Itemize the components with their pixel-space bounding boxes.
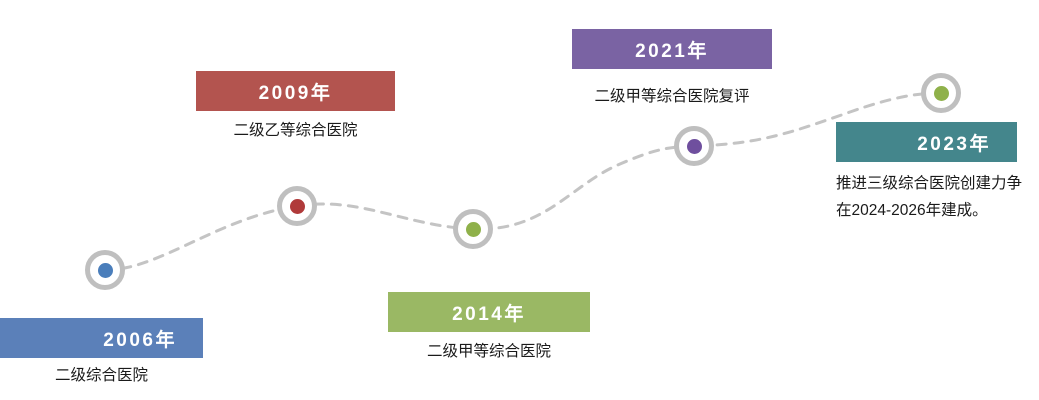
year-bar-2006[interactable]: 2006年 (0, 318, 203, 358)
milestone-caption-2014: 二级甲等综合医院 (379, 339, 599, 364)
year-label: 2009年 (259, 78, 333, 105)
milestone-node-2021[interactable] (674, 126, 714, 166)
milestone-node-2014[interactable] (453, 209, 493, 249)
year-bar-2021[interactable]: 2021年 (572, 29, 772, 69)
milestone-caption-2006: 二级综合医院 (0, 363, 203, 388)
year-bar-2009[interactable]: 2009年 (196, 71, 395, 111)
milestone-dot-icon (934, 86, 949, 101)
timeline-infographic: 2006年二级综合医院2009年二级乙等综合医院2014年二级甲等综合医院202… (0, 0, 1039, 400)
milestone-node-2009[interactable] (277, 186, 317, 226)
milestone-caption-2009: 二级乙等综合医院 (186, 118, 405, 143)
milestone-caption-2021: 二级甲等综合医院复评 (552, 84, 792, 109)
year-bar-2023[interactable]: 2023年 (836, 122, 1017, 162)
milestone-dot-icon (466, 222, 481, 237)
milestone-caption-2023: 推进三级综合医院创建力争在2024-2026年建成。 (836, 170, 1026, 224)
milestone-dot-icon (290, 199, 305, 214)
milestone-node-2023[interactable] (921, 73, 961, 113)
year-label: 2014年 (452, 299, 526, 326)
milestone-dot-icon (687, 139, 702, 154)
milestone-dot-icon (98, 263, 113, 278)
year-label: 2021年 (635, 36, 709, 63)
year-label: 2006年 (103, 325, 177, 352)
milestone-node-2006[interactable] (85, 250, 125, 290)
year-label: 2023年 (917, 129, 991, 156)
year-bar-2014[interactable]: 2014年 (388, 292, 590, 332)
